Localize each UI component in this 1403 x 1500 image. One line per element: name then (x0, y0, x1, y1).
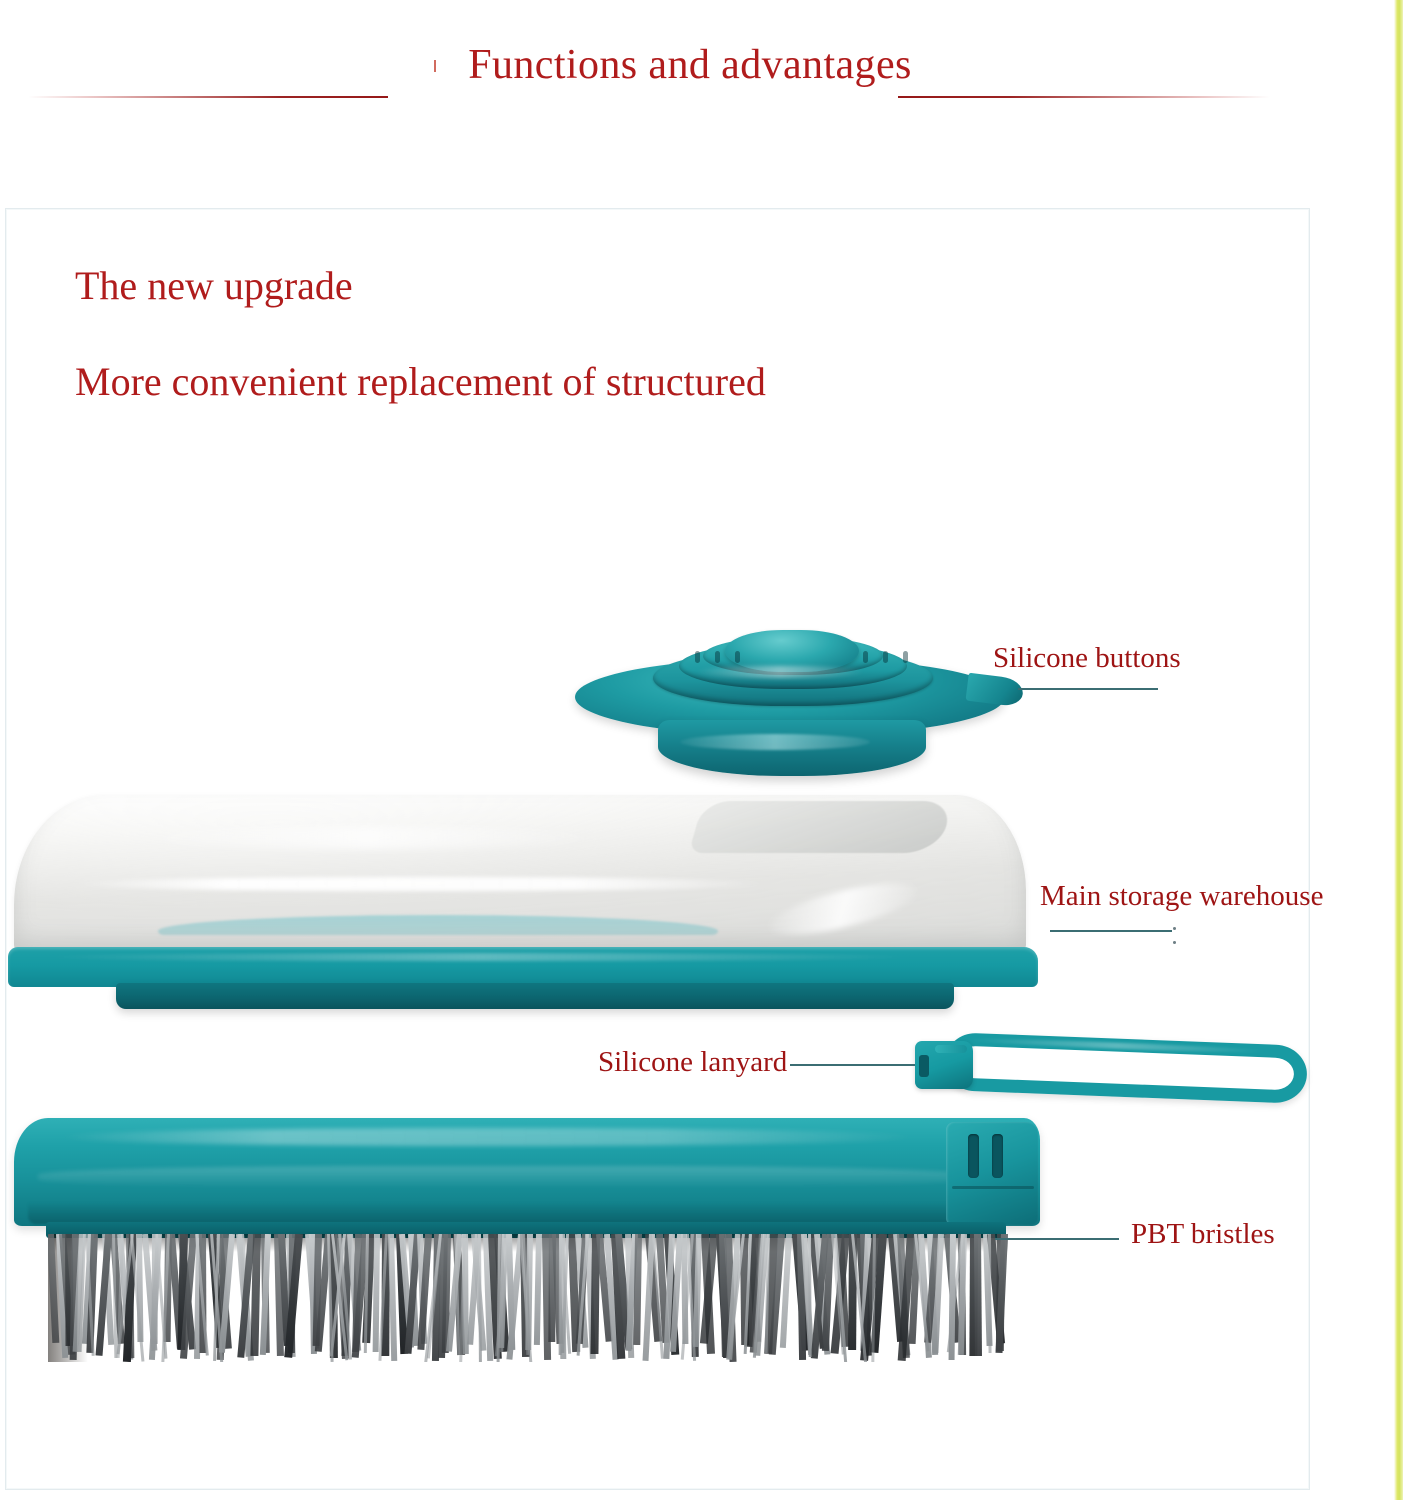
callout-main-storage-warehouse: Main storage warehouse (1040, 880, 1323, 913)
main-storage-container (8, 795, 1038, 1010)
bristle (633, 1234, 642, 1345)
bristle-strand (988, 1234, 992, 1353)
lanyard-strap (944, 1032, 1308, 1104)
storage-gloss-upper (128, 827, 608, 849)
leader-main-storage-warehouse (1050, 930, 1172, 932)
brush-with-bristles (8, 1118, 1048, 1363)
product-infographic-page: Functions and advantages The new upgrade… (0, 0, 1403, 1500)
lanyard-clip-ridge (935, 1045, 967, 1053)
brush-body-highlight (58, 1128, 918, 1146)
bristle (372, 1234, 379, 1352)
brush-body-band (38, 1166, 968, 1188)
cap-highlight (695, 666, 865, 678)
bristle (251, 1234, 262, 1356)
brush-slot-2 (992, 1134, 1003, 1178)
leader-pbt-bristles (995, 1238, 1119, 1240)
brush-latch-line (952, 1186, 1034, 1189)
bristle (534, 1234, 542, 1345)
pbt-bristle-field (48, 1234, 1008, 1362)
cap-groove-5 (883, 651, 888, 663)
bristle (974, 1234, 982, 1356)
silicone-button-cap (575, 630, 1020, 775)
cap-base-highlight (680, 734, 870, 750)
silicone-lanyard-loop (905, 1035, 1315, 1107)
bristle-strand (478, 1234, 482, 1362)
brush-body-shadow (28, 1202, 1018, 1224)
cap-groove-1 (695, 651, 700, 663)
lanyard-clip (915, 1041, 973, 1089)
storage-rim-highlight (38, 953, 918, 961)
brush-slot-1 (968, 1134, 979, 1178)
edge-accent-stripe (1394, 0, 1403, 1500)
callout-pbt-bristles: PBT bristles (1131, 1218, 1275, 1251)
callout-silicone-buttons: Silicone buttons (993, 642, 1181, 675)
storage-foot (116, 983, 954, 1009)
cap-groove-4 (863, 651, 868, 663)
cap-groove-2 (715, 651, 720, 663)
leader-dot-lower (1173, 941, 1176, 944)
product-exploded-diagram (0, 0, 1403, 1500)
lanyard-clip-notch (919, 1055, 929, 1077)
callout-silicone-lanyard: Silicone lanyard (598, 1046, 787, 1079)
storage-dome-notch (689, 801, 954, 853)
cap-groove-3 (735, 651, 740, 663)
storage-gloss-main (72, 877, 772, 891)
leader-silicone-lanyard (790, 1064, 915, 1066)
leader-dot-upper (1173, 927, 1176, 930)
cap-groove-6 (903, 651, 908, 663)
leader-silicone-buttons (1018, 688, 1158, 690)
